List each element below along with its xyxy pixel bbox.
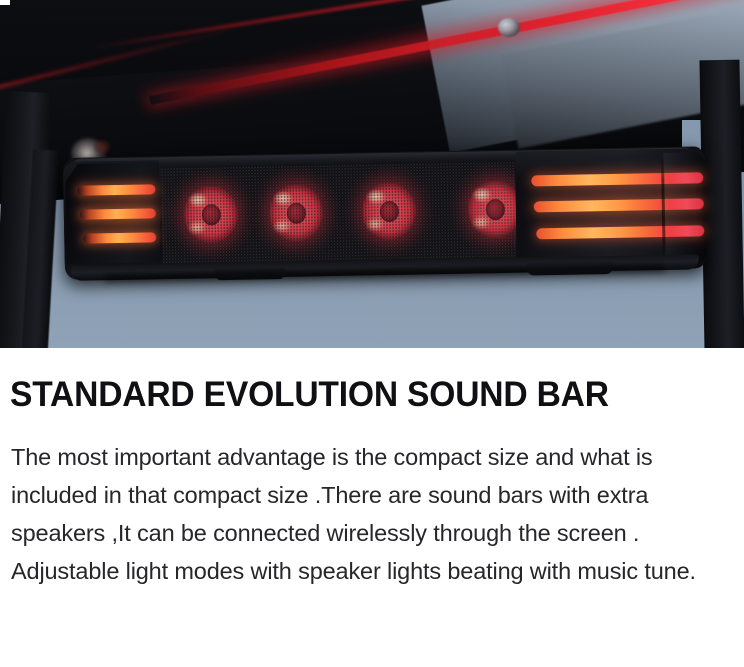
product-description: The most important advantage is the comp… <box>11 438 734 590</box>
product-image <box>0 0 744 348</box>
mount-bracket <box>94 140 110 154</box>
speaker-grille <box>155 162 523 267</box>
light-strip <box>83 232 156 243</box>
speaker-driver <box>361 182 416 241</box>
driver-mesh-overlay <box>183 185 238 244</box>
desk-knob-icon <box>498 18 520 37</box>
driver-mesh-overlay <box>268 183 323 242</box>
speaker-driver <box>183 185 238 244</box>
driver-mesh-overlay <box>361 182 416 241</box>
product-text-content: STANDARD EVOLUTION SOUND BAR The most im… <box>0 376 744 590</box>
speaker-driver <box>467 180 522 239</box>
light-strip <box>80 208 156 219</box>
sound-bar-device <box>63 146 705 286</box>
page-title: STANDARD EVOLUTION SOUND BAR <box>10 376 705 415</box>
photo-corner-sliver <box>0 0 10 5</box>
driver-mesh-overlay <box>467 180 522 239</box>
light-strip <box>77 184 155 195</box>
speaker-driver <box>268 183 323 242</box>
